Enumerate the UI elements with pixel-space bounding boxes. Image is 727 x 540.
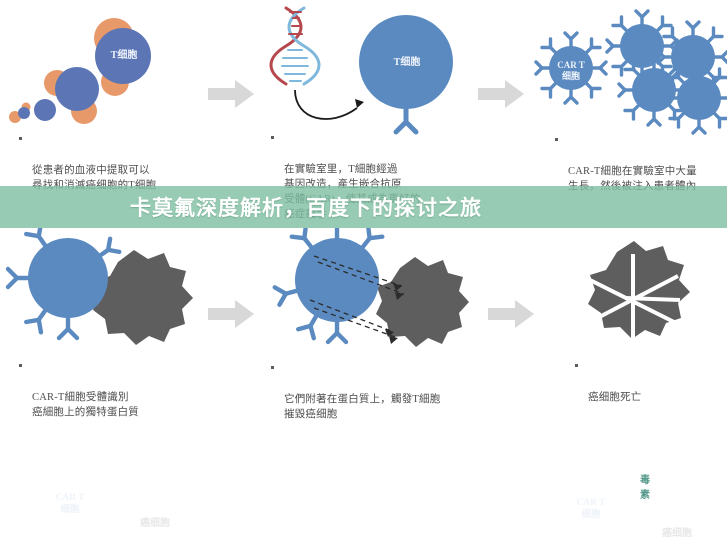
cancer-cell-death-icon [530,228,727,358]
bullet-icon [19,364,22,367]
step-3-caption: CAR-T細胞在實驗室中大量 生長，然後被注入患者體內 [568,134,727,194]
step-5-caption-text: 它們附著在蛋白質上，觸發T細胞 摧毀癌细胞 [284,394,440,420]
step-5-cancer-label: 癌细胞 [647,528,707,540]
arrow-2-3-icon [478,80,524,108]
toxin-release-icon [252,228,492,358]
step-6-caption-text: 癌细胞死亡 [588,392,642,403]
bullet-icon [575,364,578,367]
step-5-toxin-label: 毒素 [640,471,650,501]
step-6-caption: 癌细胞死亡 [588,360,727,405]
step-4-caption-text: CAR-T細胞受體識別 癌細胞上的獨特蛋白質 [32,392,139,418]
bullet-icon [555,138,558,141]
blood-cells-cluster-icon [0,0,240,135]
step-4-cancer-label: 癌细胞 [125,518,185,530]
bullet-icon [271,366,274,369]
car-t-multiply-icon [530,0,727,135]
step-1-caption: 從患者的血液中提取可以 尋找和消滅癌细胞的T细胞 [32,133,232,193]
step-5-cell-label: CAR T 细胞 [561,498,621,521]
dna-engineering-icon [252,0,492,135]
step-6-panel: 癌细胞死亡 [530,228,727,400]
step-4-caption: CAR-T細胞受體識別 癌細胞上的獨特蛋白質 [32,360,232,420]
bullet-icon [19,137,22,140]
step-4-panel: CAR T 细胞 癌细胞 CAR-T細胞受體識別 癌細胞上的獨特蛋白質 [0,228,240,400]
step-4-cell-label: CAR T 细胞 [40,493,100,516]
bullet-icon [271,136,274,139]
step-5-caption: 它們附著在蛋白質上，觸發T細胞 摧毀癌细胞 [284,362,499,422]
step-2-panel: T细胞 在實驗室里，T細胞經過 基因改造，產生嵌合抗原 受體(CAR)，使其成為… [252,0,492,186]
step-5-panel: CAR T 细胞 癌细胞 毒素 它們附著在蛋白質上，觸發T細胞 摧毀癌细胞 [252,228,492,400]
arrow-4-5-icon [208,300,254,328]
title-banner: 卡莫氟深度解析，百度下的探讨之旅 [0,186,727,228]
step-1-panel: T细胞 從患者的血液中提取可以 尋找和消滅癌细胞的T细胞 [0,0,240,186]
arrow-5-6-icon [488,300,534,328]
banner-title-text: 卡莫氟深度解析，百度下的探讨之旅 [130,192,482,222]
slide-canvas: T细胞 從患者的血液中提取可以 尋找和消滅癌细胞的T细胞 [0,0,727,400]
step-3-panel: CAR T 细胞 CAR-T細胞在實驗室中大量 生長，然後被注入患者體內 [530,0,727,186]
arrow-1-2-icon [208,80,254,108]
car-t-binding-icon [0,228,240,358]
